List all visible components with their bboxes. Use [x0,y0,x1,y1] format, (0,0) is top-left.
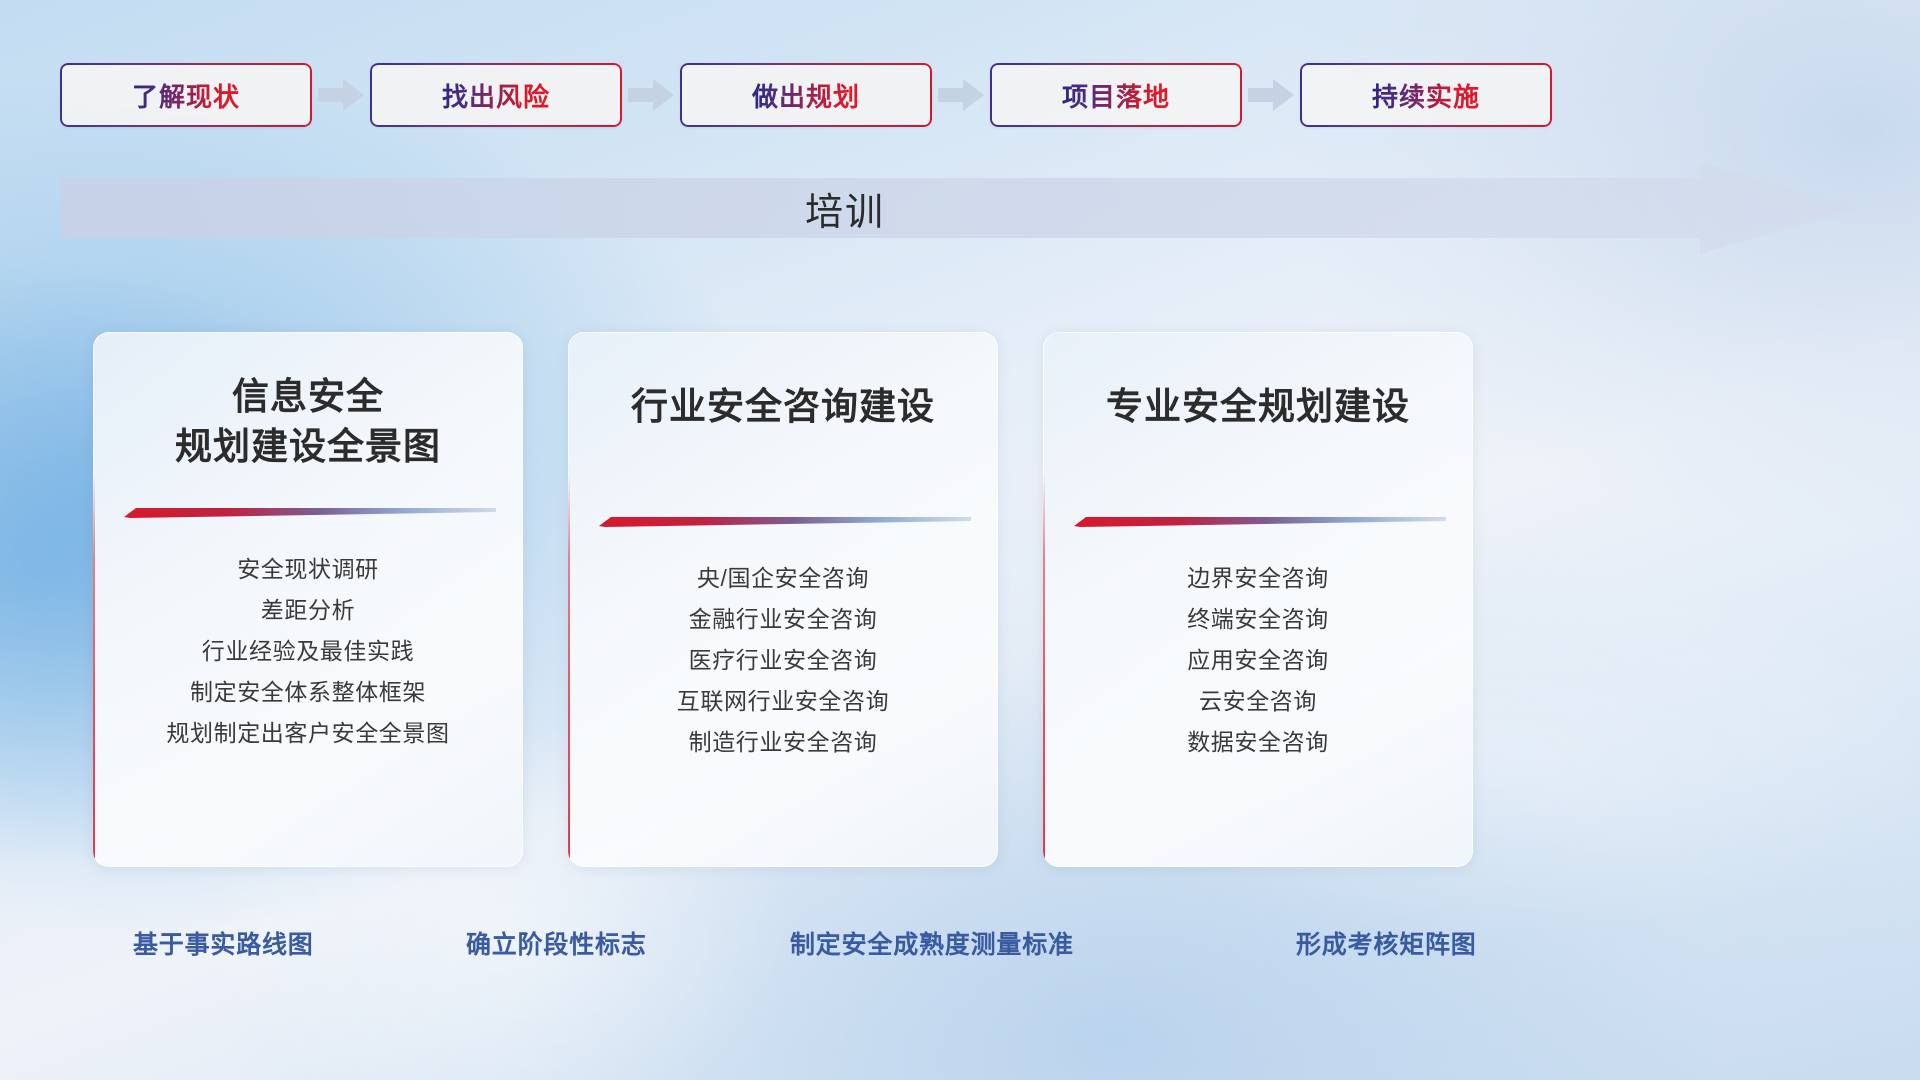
list-item: 终端安全咨询 [1043,599,1473,640]
step-label-3: 做出规划 [752,77,860,114]
card-title-3-line-1: 专业安全规划建设 [1061,382,1455,432]
list-item: 行业经验及最佳实践 [93,631,523,672]
card-accent-bar [1043,472,1045,867]
process-step-row: 了解现状 找出风险 做出规划 项目落地 持续实施 [60,62,1860,128]
card-accent-bar [93,472,95,867]
card-divider-3 [1070,514,1446,528]
list-item: 制定安全体系整体框架 [93,672,523,713]
list-item: 安全现状调研 [93,549,523,590]
list-item: 金融行业安全咨询 [568,599,998,640]
card-title-2: 行业安全咨询建设 [568,382,998,432]
list-item: 医疗行业安全咨询 [568,640,998,681]
card-professional-security-planning[interactable]: 专业安全规划建设 边界安全咨询 终端安全咨询 应用安全咨询 [1043,332,1473,867]
list-item: 差距分析 [93,590,523,631]
caption-roadmap: 基于事实路线图 [133,925,314,961]
step-box-5[interactable]: 持续实施 [1300,63,1552,127]
card-row: 信息安全 规划建设全景图 安全现状调研 差距分析 行 [0,332,1920,877]
step-label-4: 项目落地 [1062,77,1170,114]
card-list-2: 央/国企安全咨询 金融行业安全咨询 医疗行业安全咨询 互联网行业安全咨询 制造行… [568,558,998,763]
list-item: 制造行业安全咨询 [568,722,998,763]
list-item: 应用安全咨询 [1043,640,1473,681]
step-label-5: 持续实施 [1372,77,1480,114]
list-item: 云安全咨询 [1043,681,1473,722]
card-list-3: 边界安全咨询 终端安全咨询 应用安全咨询 云安全咨询 数据安全咨询 [1043,558,1473,763]
list-item: 互联网行业安全咨询 [568,681,998,722]
right-arrow-icon [932,77,990,113]
card-title-1-line-1: 信息安全 [111,372,505,422]
card-title-3: 专业安全规划建设 [1043,382,1473,432]
step-box-3[interactable]: 做出规划 [680,63,932,127]
banner-title: 培训 [60,162,1630,254]
card-title-2-line-1: 行业安全咨询建设 [586,382,980,432]
step-label-2: 找出风险 [442,77,550,114]
step-box-4[interactable]: 项目落地 [990,63,1242,127]
right-arrow-icon [1242,77,1300,113]
card-title-1-line-2: 规划建设全景图 [111,422,505,472]
card-list-1: 安全现状调研 差距分析 行业经验及最佳实践 制定安全体系整体框架 规划制定出客户… [93,549,523,754]
training-banner: 培训 [60,162,1856,254]
card-accent-bar [568,472,570,867]
caption-milestone: 确立阶段性标志 [466,925,647,961]
card-info-security-blueprint[interactable]: 信息安全 规划建设全景图 安全现状调研 差距分析 行 [93,332,523,867]
list-item: 央/国企安全咨询 [568,558,998,599]
step-box-1[interactable]: 了解现状 [60,63,312,127]
step-box-2[interactable]: 找出风险 [370,63,622,127]
card-title-1: 信息安全 规划建设全景图 [93,372,523,471]
step-label-1: 了解现状 [132,77,240,114]
list-item: 数据安全咨询 [1043,722,1473,763]
card-divider-2 [595,514,971,528]
list-item: 边界安全咨询 [1043,558,1473,599]
caption-matrix: 形成考核矩阵图 [1296,925,1477,961]
caption-row: 基于事实路线图 确立阶段性标志 制定安全成熟度测量标准 形成考核矩阵图 [0,925,1920,969]
card-industry-security-consulting[interactable]: 行业安全咨询建设 央/国企安全咨询 金融行业安全咨询 医疗行业安 [568,332,998,867]
list-item: 规划制定出客户安全全景图 [93,713,523,754]
right-arrow-icon [622,77,680,113]
right-arrow-icon [312,77,370,113]
caption-maturity: 制定安全成熟度测量标准 [790,925,1074,961]
card-divider-1 [120,505,496,519]
